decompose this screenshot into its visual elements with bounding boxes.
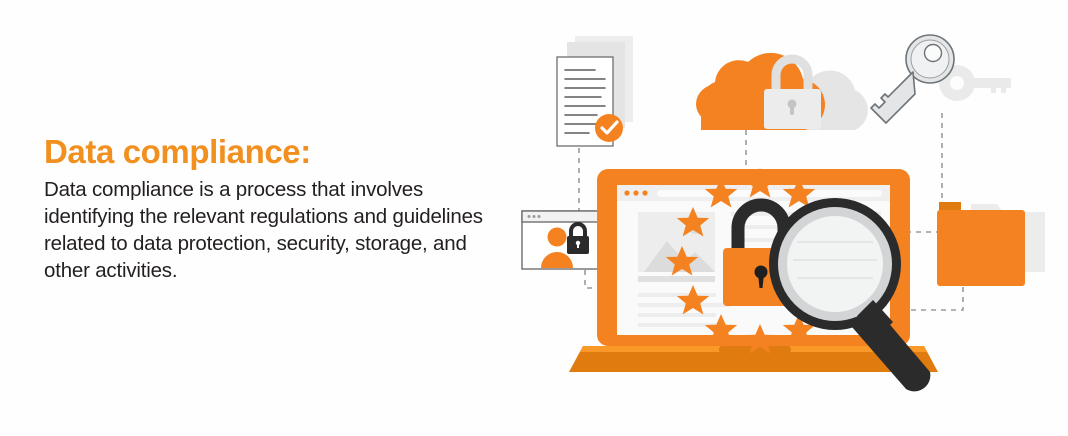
document-icon bbox=[557, 36, 633, 146]
document-approved-badge bbox=[595, 114, 623, 142]
banner-root: Data compliance: Data compliance is a pr… bbox=[0, 0, 1068, 436]
key-icon bbox=[871, 35, 1011, 123]
data-compliance-illustration bbox=[505, 0, 1068, 436]
login-window-dots bbox=[528, 215, 541, 218]
folder-shape bbox=[937, 202, 1025, 286]
folder-body bbox=[937, 210, 1025, 286]
screen-browser-dots bbox=[624, 190, 647, 195]
login-window-icon bbox=[522, 211, 607, 269]
cloud-lock-icon bbox=[696, 53, 868, 130]
magnifier-lens bbox=[787, 216, 883, 312]
text-block: Data compliance: Data compliance is a pr… bbox=[44, 134, 504, 284]
key-shape bbox=[871, 35, 954, 123]
connector-folder-to-laptop bbox=[903, 287, 963, 310]
page-title: Data compliance: bbox=[44, 134, 504, 170]
page-description: Data compliance is a process that involv… bbox=[44, 176, 504, 284]
folder-icon bbox=[937, 202, 1045, 286]
